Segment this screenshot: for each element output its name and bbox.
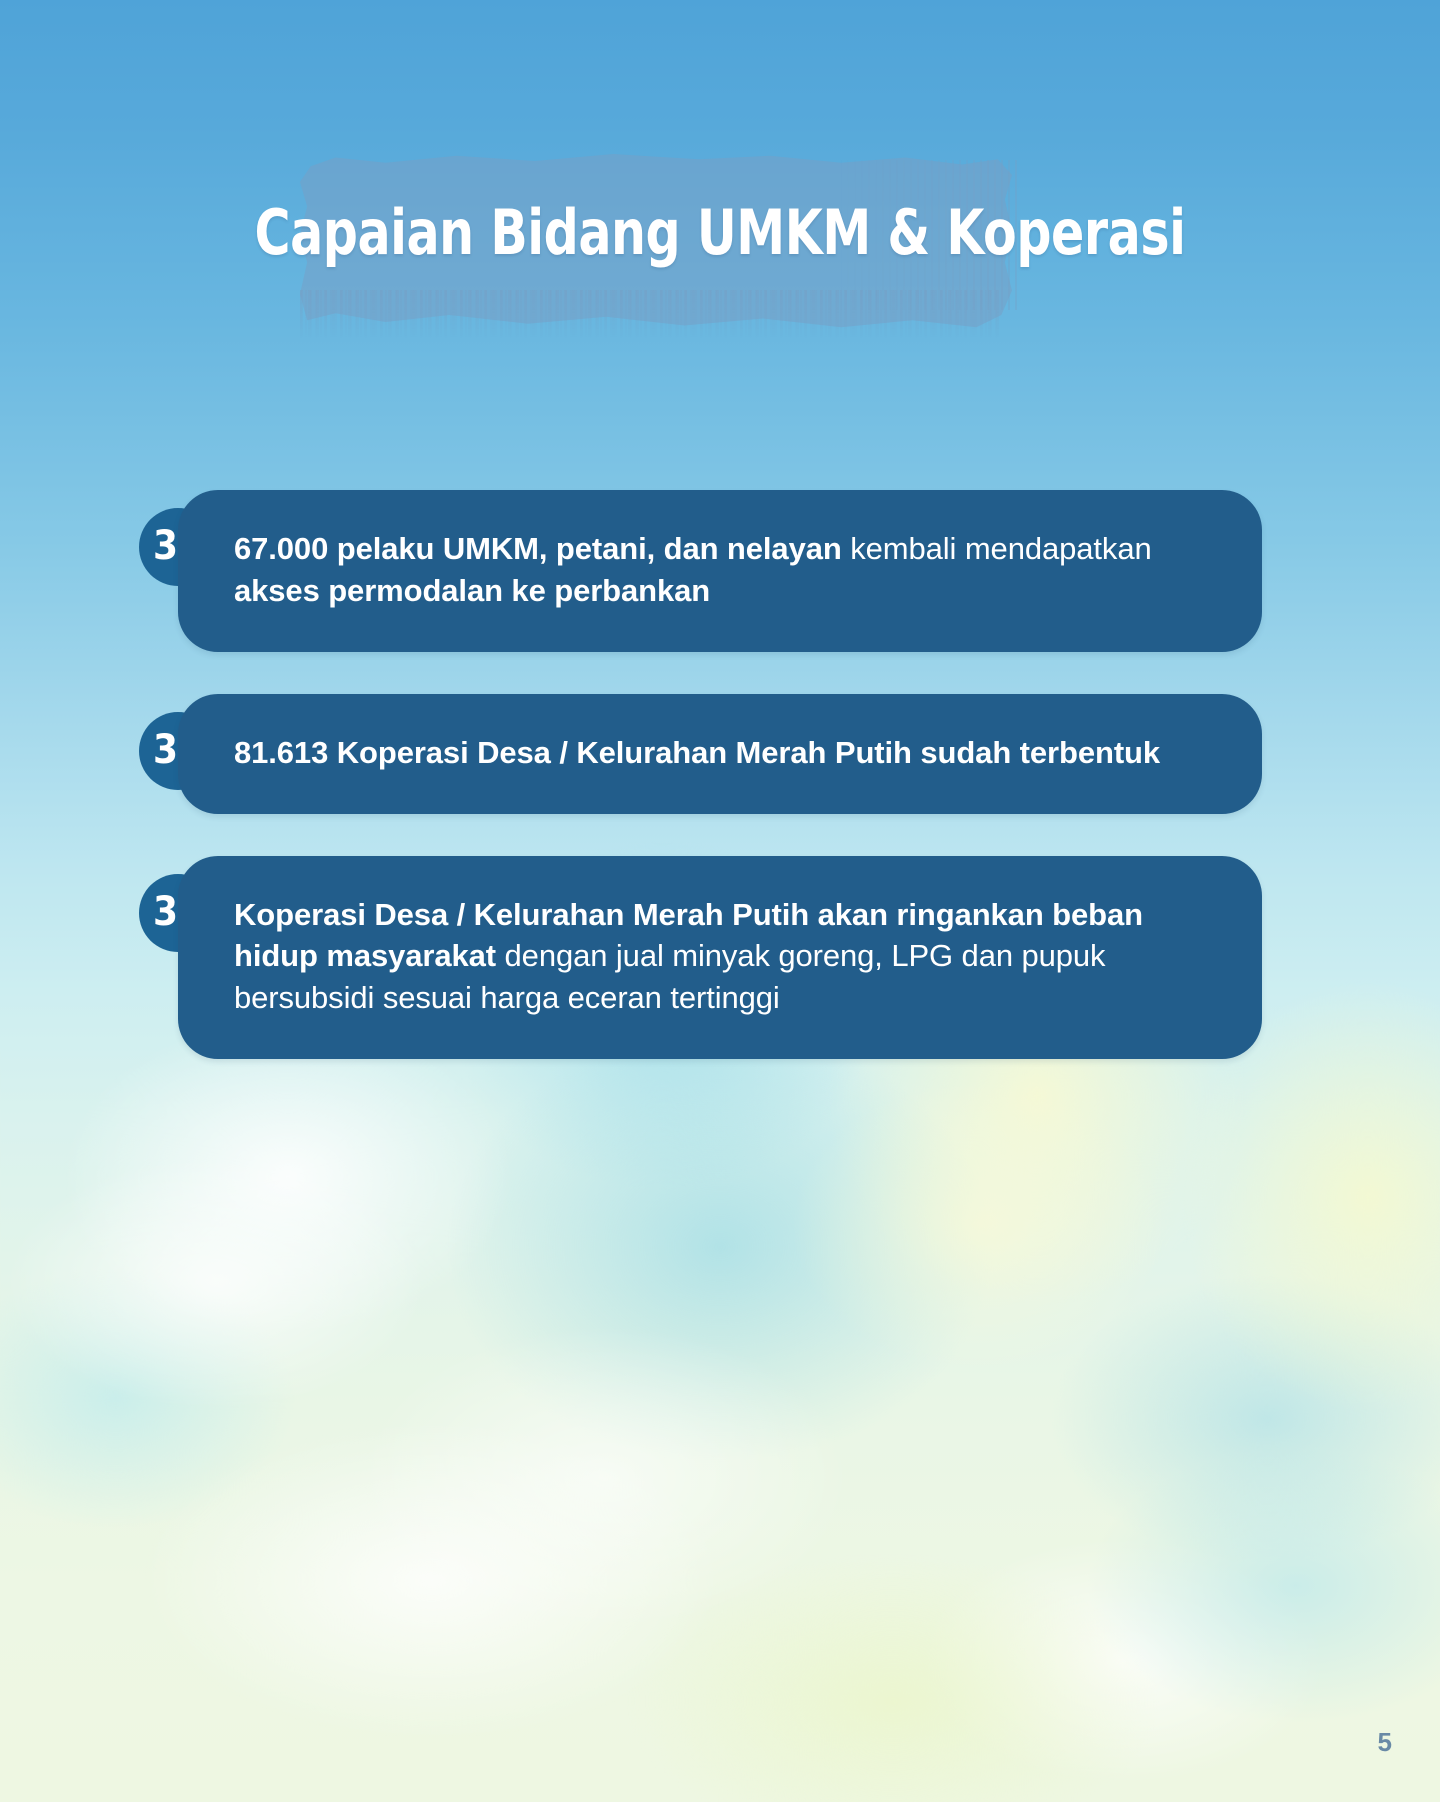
card-text: 81.613 Koperasi Desa / Kelurahan Merah P… [234, 732, 1214, 774]
page-number: 5 [1378, 1727, 1392, 1758]
achievement-card: 3167.000 pelaku UMKM, petani, dan nelaya… [0, 490, 1440, 652]
background-watercolor-clouds-lower [0, 1081, 1440, 1802]
card-text: Koperasi Desa / Kelurahan Merah Putih ak… [234, 894, 1214, 1020]
achievement-card-list: 3167.000 pelaku UMKM, petani, dan nelaya… [0, 452, 1440, 1101]
card-text: 67.000 pelaku UMKM, petani, dan nelayan … [234, 528, 1214, 612]
slide-canvas: Capaian Bidang UMKM & Koperasi 3167.000 … [0, 0, 1440, 1802]
achievement-card: 3281.613 Koperasi Desa / Kelurahan Merah… [0, 694, 1440, 814]
achievement-card: 33Koperasi Desa / Kelurahan Merah Putih … [0, 856, 1440, 1060]
card-text-emphasis: 67.000 pelaku UMKM, petani, dan nelayan [234, 531, 850, 566]
title-area: Capaian Bidang UMKM & Koperasi [0, 140, 1440, 350]
page-title: Capaian Bidang UMKM & Koperasi [86, 196, 1353, 269]
card-body: 81.613 Koperasi Desa / Kelurahan Merah P… [178, 694, 1262, 814]
card-text-emphasis: akses permodalan ke perbankan [234, 573, 710, 608]
card-body: Koperasi Desa / Kelurahan Merah Putih ak… [178, 856, 1262, 1060]
card-text-emphasis: 81.613 Koperasi Desa / Kelurahan Merah P… [234, 735, 1160, 770]
card-body: 67.000 pelaku UMKM, petani, dan nelayan … [178, 490, 1262, 652]
card-text-normal: kembali mendapatkan [850, 531, 1151, 566]
